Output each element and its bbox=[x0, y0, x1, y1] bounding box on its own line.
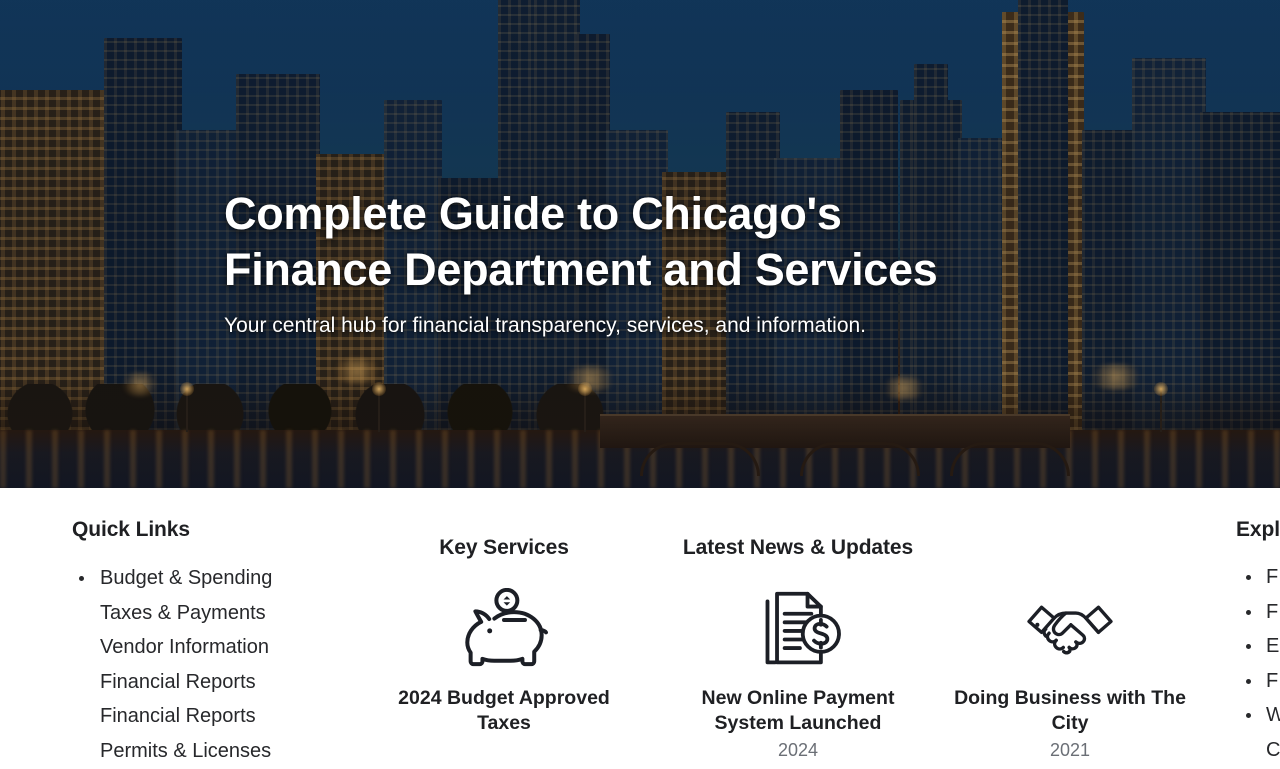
quick-link-item[interactable]: Permits & Licenses bbox=[72, 734, 342, 769]
news-card[interactable]: New Online Payment System Launched 2024 bbox=[676, 588, 920, 762]
news-card-label: Doing Business with The City bbox=[948, 686, 1192, 736]
explore-section: Expl F F E F W C C bbox=[1236, 518, 1280, 769]
news-card-label: New Online Payment System Launched bbox=[676, 686, 920, 736]
news-heading: Latest News & Updates bbox=[676, 536, 920, 560]
news-card[interactable]: Doing Business with The City 2021 bbox=[948, 588, 1192, 762]
piggy-bank-icon bbox=[458, 588, 550, 670]
page-root: Complete Guide to Chicago's Finance Depa… bbox=[0, 0, 1280, 769]
explore-item[interactable]: F bbox=[1236, 664, 1280, 699]
explore-item[interactable]: E bbox=[1236, 629, 1280, 664]
news-section: Latest News & Updates bbox=[676, 536, 1236, 762]
quick-link-item[interactable]: Financial Reports bbox=[72, 699, 342, 734]
page-title: Complete Guide to Chicago's Finance Depa… bbox=[224, 186, 1044, 298]
document-dollar-icon bbox=[752, 588, 844, 670]
explore-item[interactable]: F bbox=[1236, 595, 1280, 630]
hero-banner: Complete Guide to Chicago's Finance Depa… bbox=[0, 0, 1280, 488]
quick-links-heading: Quick Links bbox=[72, 518, 342, 542]
handshake-icon bbox=[1024, 588, 1116, 670]
key-services-section: Key Services 2024 Budget Approved Taxes bbox=[389, 536, 619, 736]
hero-copy: Complete Guide to Chicago's Finance Depa… bbox=[224, 186, 1044, 340]
quick-link-item[interactable]: Budget & Spending bbox=[72, 561, 342, 596]
content-area: Quick Links Budget & Spending Taxes & Pa… bbox=[0, 488, 1280, 769]
key-service-label: 2024 Budget Approved Taxes bbox=[389, 686, 619, 736]
explore-list: F F E F W C C bbox=[1236, 560, 1280, 769]
quick-link-item[interactable]: Taxes & Payments bbox=[72, 596, 342, 631]
news-card-list: New Online Payment System Launched 2024 bbox=[676, 588, 1236, 762]
page-subtitle: Your central hub for financial transpare… bbox=[224, 312, 1044, 340]
quick-link-item[interactable]: Financial Reports bbox=[72, 665, 342, 700]
quick-links-list: Budget & Spending Taxes & Payments Vendo… bbox=[72, 561, 342, 768]
explore-heading: Expl bbox=[1236, 518, 1280, 542]
quick-link-item[interactable]: Vendor Information bbox=[72, 630, 342, 665]
explore-item[interactable]: W bbox=[1236, 698, 1280, 733]
explore-item-wrap[interactable]: C bbox=[1236, 733, 1280, 768]
key-services-heading: Key Services bbox=[389, 536, 619, 560]
explore-item[interactable]: F bbox=[1236, 560, 1280, 595]
news-card-year: 2021 bbox=[948, 739, 1192, 762]
news-card-year: 2024 bbox=[676, 739, 920, 762]
quick-links-section: Quick Links Budget & Spending Taxes & Pa… bbox=[72, 518, 342, 768]
key-service-card[interactable]: 2024 Budget Approved Taxes bbox=[389, 588, 619, 736]
